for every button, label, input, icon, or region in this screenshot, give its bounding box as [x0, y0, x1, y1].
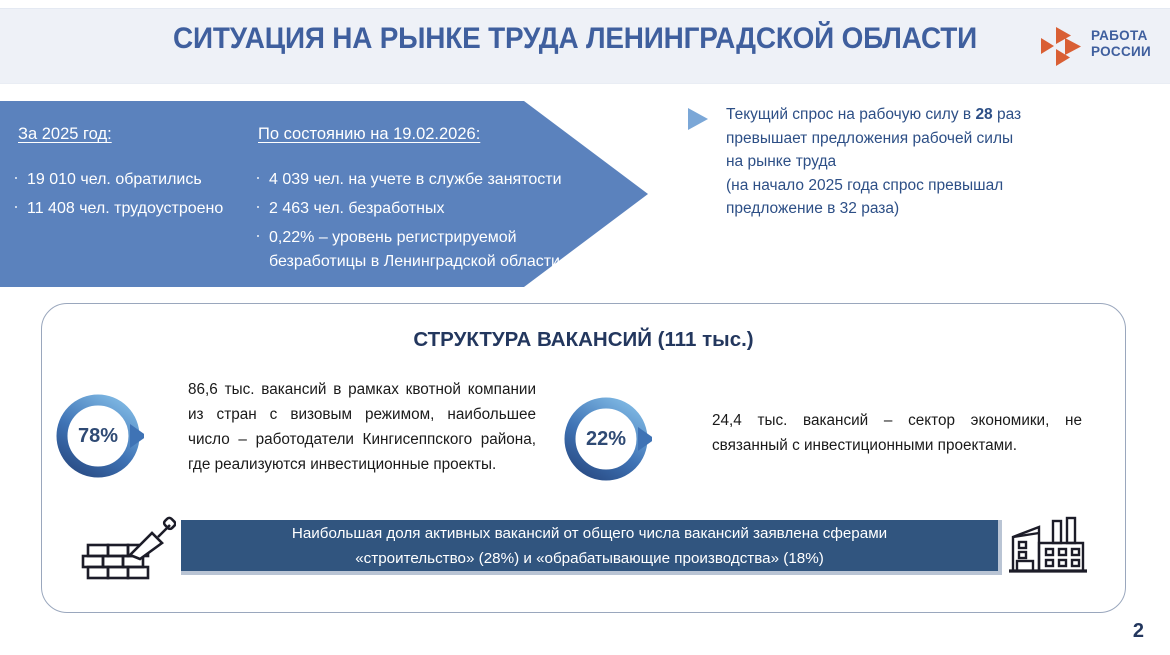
sector-strip-line1: Наибольшая доля активных вакансий от общ… [292, 521, 887, 546]
donut-chart-78: 78% [52, 390, 144, 482]
donut-chart-22: 22% [560, 393, 652, 485]
page-number: 2 [1133, 620, 1144, 643]
donut-78-description: 86,6 тыс. вакансий в рамках квотной комп… [188, 377, 536, 477]
note-line2: превышает предложения рабочей силы [726, 130, 1013, 147]
brand-logo: РАБОТА РОССИИ [1041, 24, 1166, 70]
note-line4: (на начало 2025 года спрос превышал [726, 177, 1003, 194]
banner-list-asof: 4 039 чел. на учете в службе занятости 2… [252, 168, 609, 279]
brick-wall-trowel-icon [80, 515, 176, 581]
banner-heading-year: За 2025 год: [18, 125, 112, 144]
demand-supply-note-text: Текущий спрос на рабочую силу в 28 раз п… [726, 103, 1126, 221]
note-line5: предложение в 32 раза) [726, 200, 899, 217]
card-title: СТРУКТУРА ВАКАНСИЙ (111 тыс.) [42, 328, 1125, 352]
triangle-right-icon [688, 108, 708, 130]
donut-percent-label: 78% [52, 390, 144, 482]
list-item: 0,22% – уровень регистрируемой безработи… [252, 226, 609, 274]
list-item: 19 010 чел. обратились [10, 168, 223, 192]
banner-heading-asof: По состоянию на 19.02.2026: [258, 125, 480, 144]
brand-logo-line2: РОССИИ [1091, 44, 1151, 60]
sector-strip-line2: «строительство» (28%) и «обрабатывающие … [355, 546, 824, 571]
page-title: СИТУАЦИЯ НА РЫНКЕ ТРУДА ЛЕНИНГРАДСКОЙ ОБ… [152, 22, 998, 56]
note-line1-bold: 28 [975, 106, 992, 123]
list-item: 4 039 чел. на учете в службе занятости [252, 168, 609, 192]
brand-logo-text: РАБОТА РОССИИ [1091, 28, 1151, 60]
rabota-rossii-triangles-logo-icon [1041, 26, 1085, 68]
donut-22-description: 24,4 тыс. вакансий – сектор экономики, н… [712, 408, 1082, 458]
factory-icon [1005, 513, 1089, 581]
banner-list-year: 19 010 чел. обратились 11 408 чел. трудо… [10, 168, 223, 226]
note-line1-pre: Текущий спрос на рабочую силу в [726, 106, 975, 123]
list-item: 11 408 чел. трудоустроено [10, 197, 223, 221]
sector-share-strip: Наибольшая доля активных вакансий от общ… [181, 520, 1002, 575]
note-line1-post: раз [993, 106, 1021, 123]
brand-logo-line1: РАБОТА [1091, 28, 1151, 44]
note-line3: на рынке труда [726, 153, 836, 170]
list-item: 2 463 чел. безработных [252, 197, 609, 221]
donut-percent-label: 22% [560, 393, 652, 485]
